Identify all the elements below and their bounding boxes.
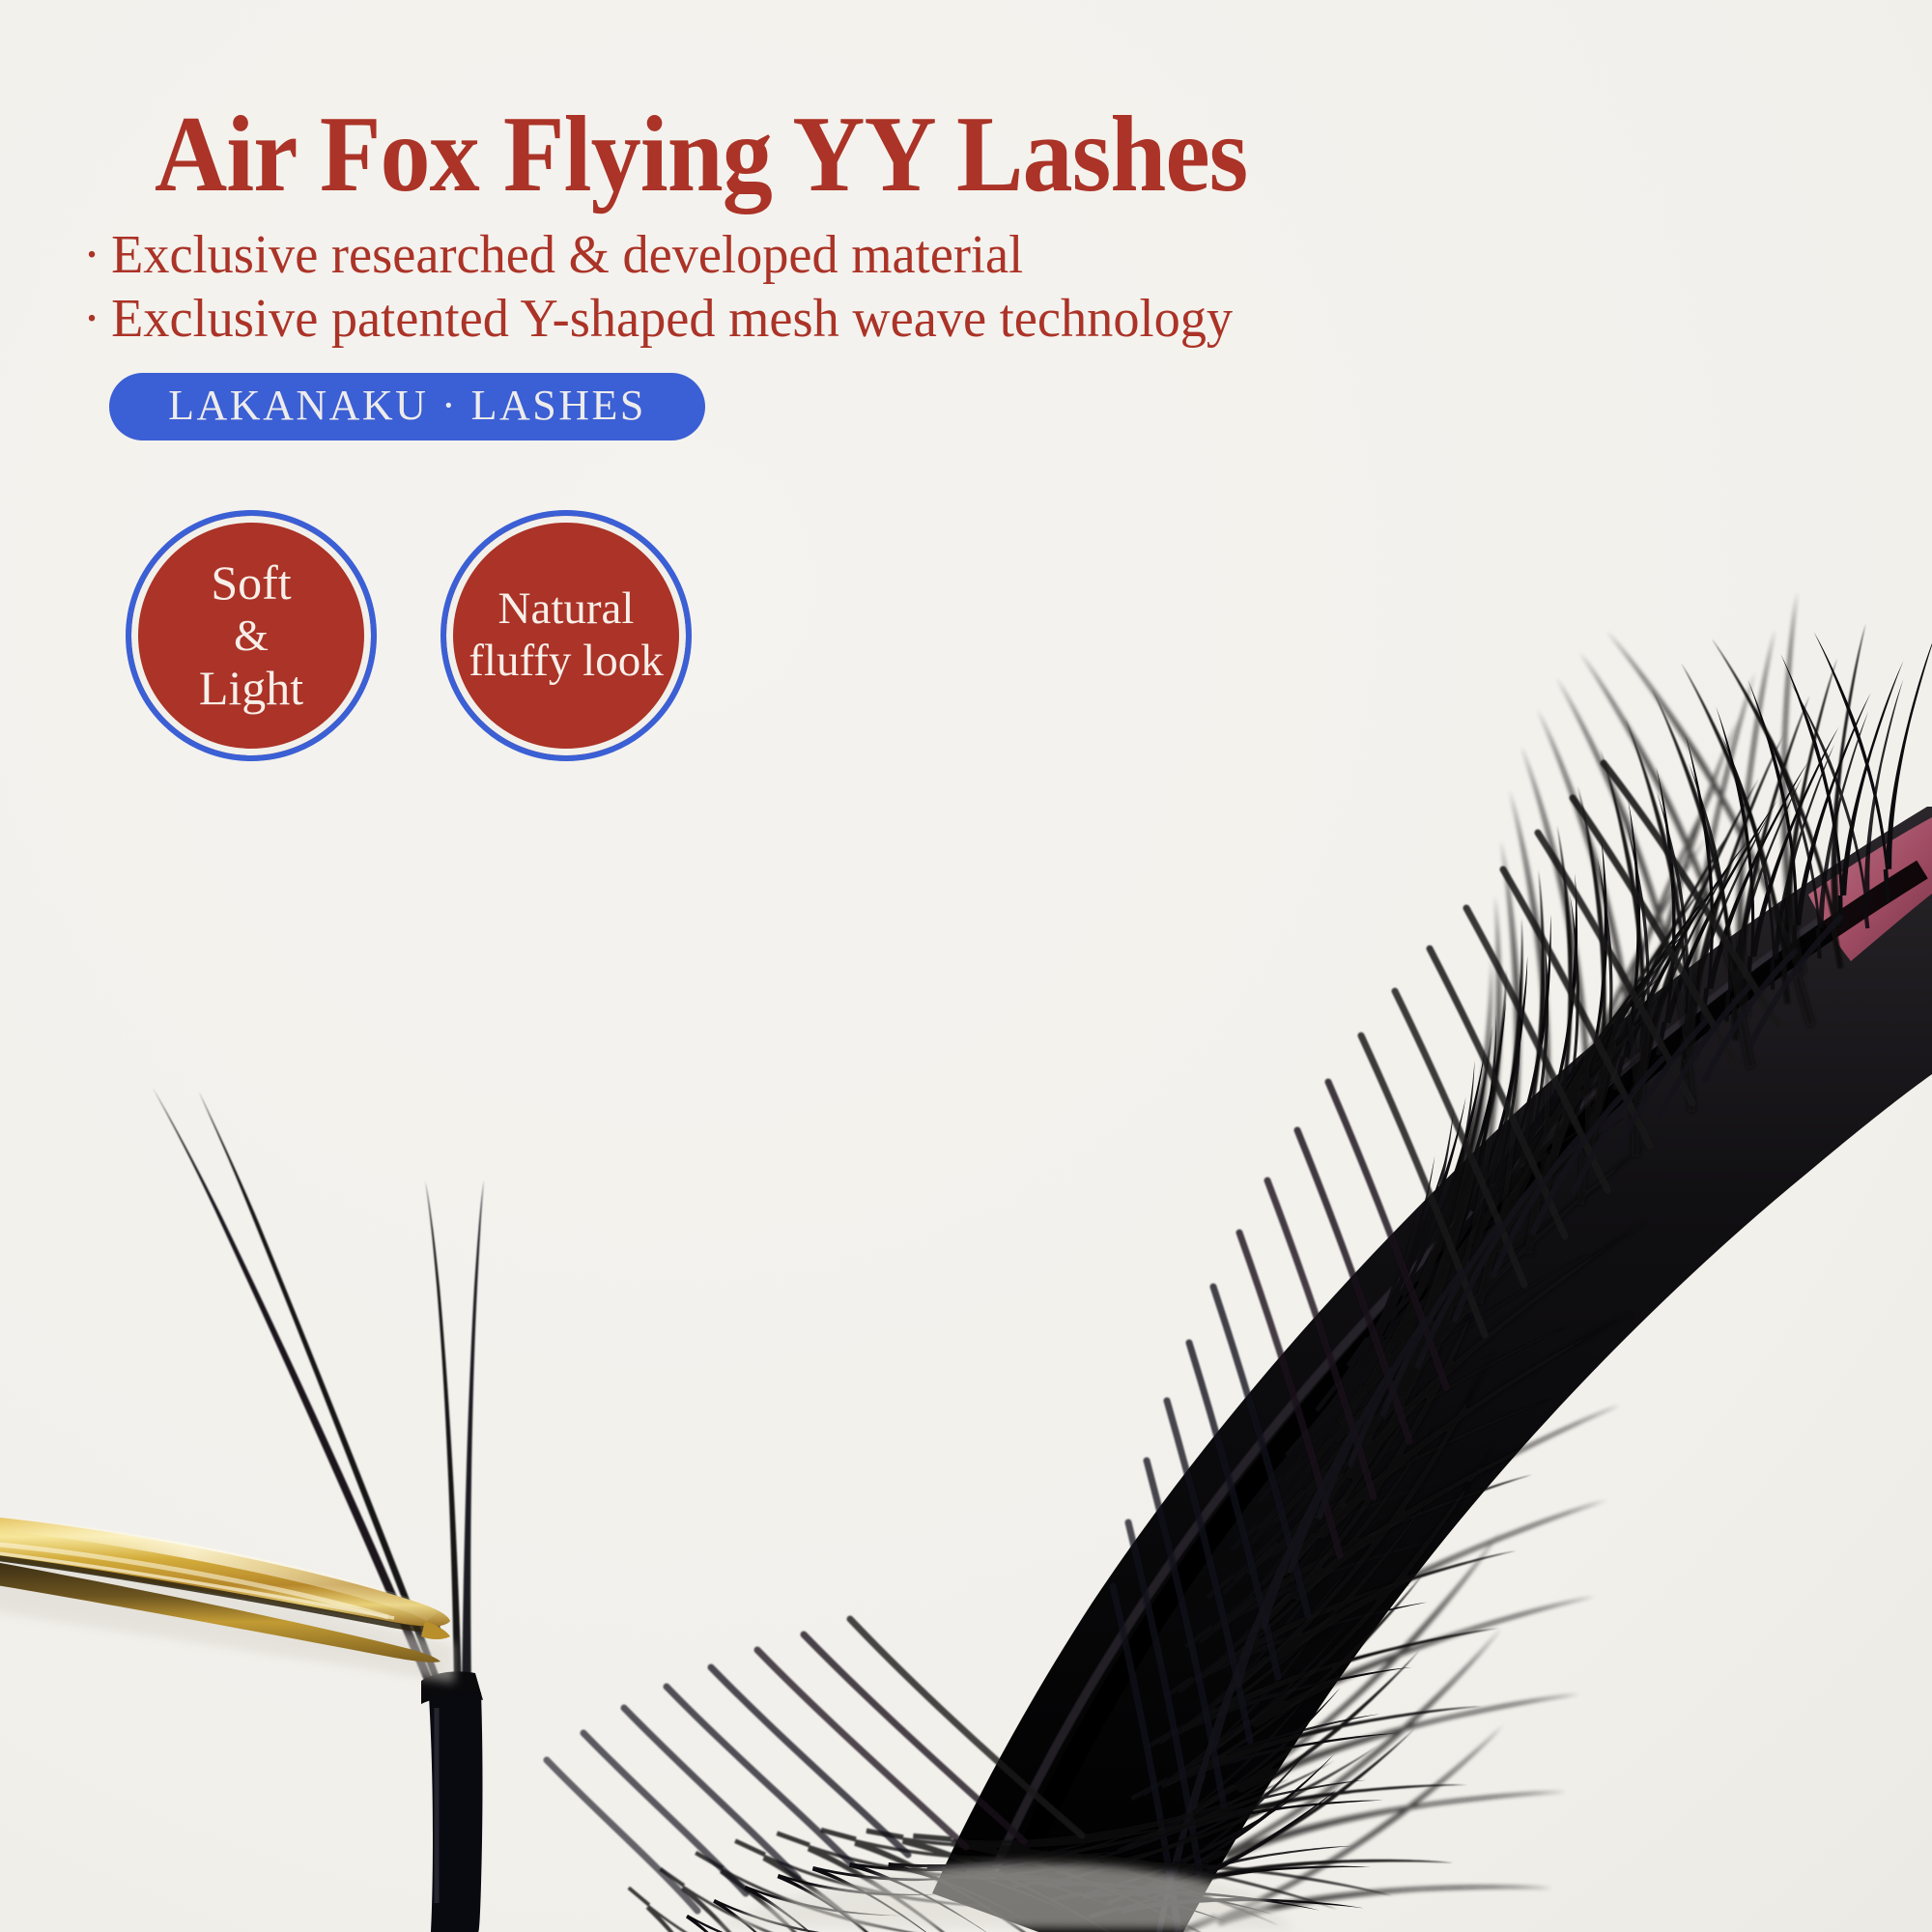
product-poster: Air Fox Flying YY Lashes ·Exclusive rese…	[0, 0, 1932, 1932]
badge-line: Soft	[211, 555, 291, 611]
badge-line: Natural	[498, 583, 635, 636]
feature-bullet-text: Exclusive patented Y-shaped mesh weave t…	[111, 289, 1233, 349]
brand-badge: LAKANAKU · LASHES	[109, 373, 705, 440]
badge-line: Light	[199, 661, 303, 716]
feature-badge-soft-and-light: Soft & Light	[126, 510, 377, 761]
page-title: Air Fox Flying YY Lashes	[155, 100, 1247, 209]
badge-line: fluffy look	[469, 636, 663, 688]
bullet-marker-icon: ·	[83, 224, 111, 288]
feature-bullets: ·Exclusive researched & developed materi…	[83, 224, 1268, 351]
badge-line: &	[234, 611, 269, 661]
feature-bullet: ·Exclusive patented Y-shaped mesh weave …	[83, 288, 1233, 352]
brand-badge-label: LAKANAKU · LASHES	[168, 384, 646, 429]
feature-bullet: ·Exclusive researched & developed materi…	[83, 224, 1233, 288]
feature-bullet-text: Exclusive researched & developed materia…	[111, 225, 1023, 285]
feature-badge-natural-fluffy-look: Natural fluffy look	[440, 510, 692, 761]
bullet-marker-icon: ·	[83, 288, 111, 352]
